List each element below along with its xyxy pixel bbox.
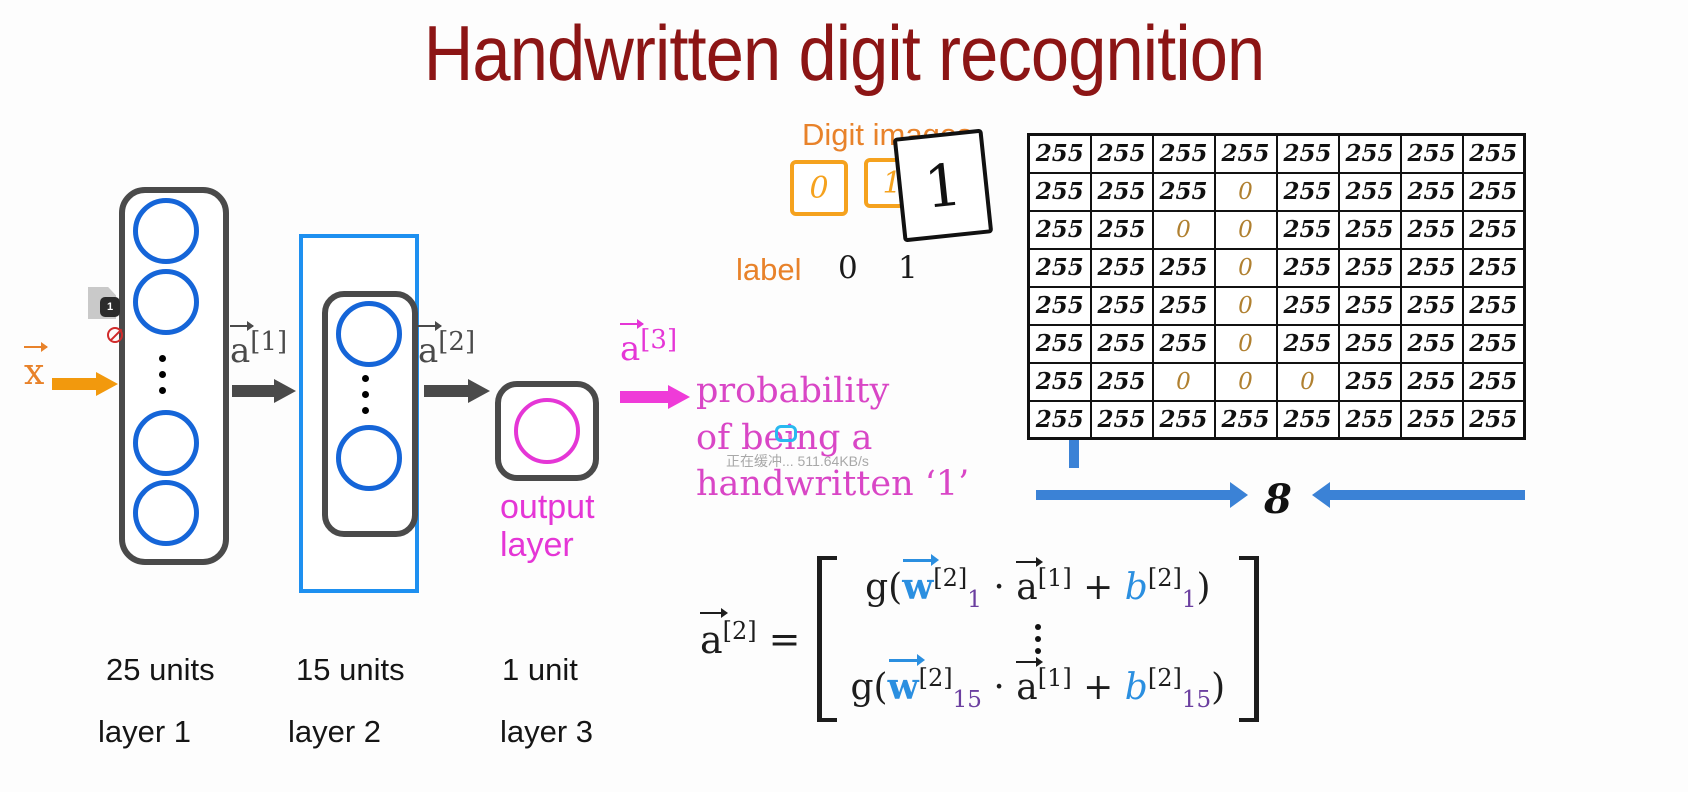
pixel-matrix-cell: 255 — [1153, 135, 1215, 173]
layer-2-name-label: layer 2 — [288, 714, 381, 750]
formula-bottom-w: w — [888, 666, 919, 708]
pixel-matrix-cell: 255 — [1339, 249, 1401, 287]
formula-bottom-b-sup: [2] — [1148, 664, 1182, 692]
pixel-matrix-cell: 255 — [1091, 325, 1153, 363]
pixel-matrix-row: 25525500255255255255 — [1029, 211, 1525, 249]
activation-2-symbol: a — [418, 331, 438, 371]
pixel-matrix-cell: 255 — [1277, 135, 1339, 173]
layer-2-unit-15 — [336, 425, 402, 491]
formula-top-g: g( — [865, 567, 902, 608]
formula-bottom-close: ) — [1211, 667, 1225, 708]
pixel-matrix-row: 2552552550255255255255 — [1029, 249, 1525, 287]
pixel-matrix-cell: 255 — [1153, 287, 1215, 325]
pixel-matrix-cell: 255 — [1029, 401, 1091, 439]
activation-2-label: a[2] — [418, 327, 475, 371]
pixel-matrix-cell: 255 — [1401, 287, 1463, 325]
pixel-matrix-cell: 255 — [1401, 173, 1463, 211]
activation-3-superscript: [3] — [640, 325, 677, 355]
handwritten-digit-card: 1 — [893, 129, 993, 243]
pixel-matrix-cell: 255 — [1463, 363, 1525, 401]
formula-bottom-dot: · — [993, 667, 1004, 708]
matrix-cols-dimension: 8 — [1264, 476, 1292, 523]
output-layer-label: output layer — [500, 488, 595, 564]
pixel-matrix-cell: 255 — [1277, 287, 1339, 325]
activation-2-superscript: [2] — [438, 327, 475, 357]
formula-bracket-right — [1239, 556, 1259, 722]
pixel-matrix-cell: 255 — [1091, 287, 1153, 325]
formula-top-a-sup: [1] — [1038, 564, 1072, 592]
pixel-matrix-cell: 255 — [1091, 249, 1153, 287]
label-value-0: 0 — [838, 250, 858, 286]
output-layer-line-1: output — [500, 488, 595, 526]
pixel-matrix-cell: 255 — [1091, 135, 1153, 173]
pixel-matrix-cell: 255 — [1029, 249, 1091, 287]
activation-3-label: a[3] — [620, 325, 677, 369]
layer-2-units-label: 15 units — [296, 652, 405, 688]
label-value-1: 1 — [898, 250, 918, 286]
pixel-matrix-cell: 255 — [1277, 173, 1339, 211]
pixel-matrix-cell: 255 — [1339, 325, 1401, 363]
pixel-matrix-cell: 255 — [1401, 211, 1463, 249]
pixel-matrix-cell: 255 — [1339, 135, 1401, 173]
formula-bottom-a-sup: [1] — [1038, 664, 1072, 692]
matrix-width-arrow-right-head — [1312, 482, 1330, 508]
page-title: Handwritten digit recognition — [101, 8, 1586, 99]
buffering-status: 正在缓冲... 511.64KB/s — [726, 451, 869, 471]
formula-top-w: w — [902, 566, 933, 608]
pixel-matrix-cell: 255 — [1463, 211, 1525, 249]
pixel-matrix-cell: 0 — [1277, 363, 1339, 401]
formula-top-b-sup: [2] — [1148, 564, 1182, 592]
pixel-matrix-cell: 0 — [1215, 325, 1277, 363]
pixel-matrix-cell: 255 — [1401, 401, 1463, 439]
layer-1-unit-24 — [133, 410, 199, 476]
pixel-matrix-cell: 0 — [1153, 363, 1215, 401]
pixel-matrix-cell: 0 — [1215, 363, 1277, 401]
formula-equals: = — [769, 617, 801, 661]
pixel-matrix-cell: 255 — [1339, 287, 1401, 325]
formula-top-dot: · — [993, 567, 1004, 608]
pixel-matrix-cell: 255 — [1277, 211, 1339, 249]
formula-lhs-symbol: a — [700, 618, 723, 662]
formula-bottom-b: b — [1125, 667, 1148, 708]
pixel-matrix-cell: 0 — [1215, 211, 1277, 249]
formula-bottom-g: g( — [851, 667, 888, 708]
pixel-matrix-cell: 255 — [1277, 249, 1339, 287]
output-layer-line-2: layer — [500, 526, 595, 564]
pixel-matrix-cell: 255 — [1463, 173, 1525, 211]
formula-top-a: a — [1016, 567, 1037, 608]
pixel-matrix-cell: 255 — [1401, 325, 1463, 363]
formula-top-w-sub: 1 — [967, 587, 982, 613]
formula-top-plus: + — [1083, 567, 1113, 608]
pixel-matrix-cell: 255 — [1401, 135, 1463, 173]
input-vector-label: x — [24, 352, 44, 393]
digit-card-0: 0 — [790, 160, 848, 216]
layer-2-ellipsis — [361, 375, 369, 414]
drag-count-badge: 1 — [100, 297, 120, 317]
pixel-matrix-row: 255255255255255255255255 — [1029, 135, 1525, 173]
matrix-width-arrow-left-shaft — [1036, 490, 1232, 500]
pixel-matrix-cell: 255 — [1277, 401, 1339, 439]
pixel-matrix-cell: 255 — [1153, 401, 1215, 439]
pixel-matrix-cell: 0 — [1153, 211, 1215, 249]
formula-top-close: ) — [1196, 567, 1210, 608]
formula-rows: g(w[2]1 · a[1] + b[2]1) g(w[2]15 · a[1] … — [837, 556, 1240, 722]
activation-1-label: a[1] — [230, 327, 287, 371]
pixel-matrix-cell: 255 — [1091, 363, 1153, 401]
layer-1-unit-25 — [133, 480, 199, 546]
pixel-matrix-row: 255255255255255255255255 — [1029, 401, 1525, 439]
formula-lhs-superscript: [2] — [723, 617, 757, 645]
formula-lhs: a[2] — [700, 617, 757, 662]
activation-1-symbol: a — [230, 331, 250, 371]
layer-1-unit-2 — [133, 269, 199, 335]
pixel-matrix-cell: 255 — [1091, 401, 1153, 439]
pixel-matrix-cell: 255 — [1339, 363, 1401, 401]
pixel-matrix-cell: 255 — [1091, 211, 1153, 249]
probability-line-1: probability — [696, 368, 969, 415]
formula-bottom-a: a — [1016, 667, 1037, 708]
activation-3-symbol: a — [620, 329, 640, 369]
pixel-matrix-cell: 255 — [1029, 135, 1091, 173]
pixel-matrix-cell: 0 — [1215, 249, 1277, 287]
pixel-matrix-cell: 255 — [1277, 325, 1339, 363]
activation-1-superscript: [1] — [250, 327, 287, 357]
pixel-matrix-cell: 255 — [1401, 249, 1463, 287]
pixel-matrix-cell: 255 — [1029, 211, 1091, 249]
formula-ellipsis — [1035, 620, 1041, 658]
formula-row-bottom: g(w[2]15 · a[1] + b[2]15) — [851, 662, 1226, 716]
formula-bottom-plus: + — [1083, 667, 1113, 708]
formula-bottom-w-sup: [2] — [919, 664, 953, 692]
pixel-matrix-cell: 255 — [1339, 211, 1401, 249]
pixel-matrix-cell: 255 — [1153, 173, 1215, 211]
formula-bottom-b-sub: 15 — [1182, 687, 1211, 713]
formula-top-w-sup: [2] — [933, 564, 967, 592]
pixel-matrix-cell: 255 — [1153, 249, 1215, 287]
pixel-matrix-body: 2552552552552552552552552552552550255255… — [1029, 135, 1525, 439]
pixel-matrix-row: 2552552550255255255255 — [1029, 173, 1525, 211]
pixel-matrix-cell: 255 — [1153, 325, 1215, 363]
output-unit — [514, 398, 580, 464]
formula-bottom-w-sub: 15 — [953, 687, 982, 713]
layer-2-unit-1 — [336, 301, 402, 367]
no-drop-icon — [107, 327, 123, 343]
pixel-matrix-cell: 255 — [1215, 401, 1277, 439]
label-word: label — [736, 252, 802, 288]
pixel-matrix-cell: 255 — [1463, 325, 1525, 363]
pixel-matrix-cell: 255 — [1339, 173, 1401, 211]
activation-formula: a[2] = g(w[2]1 · a[1] + b[2]1) g(w[2]15 … — [700, 556, 1259, 722]
formula-top-b: b — [1125, 567, 1148, 608]
layer-1-units-label: 25 units — [106, 652, 215, 688]
pixel-matrix-cell: 255 — [1029, 173, 1091, 211]
pixel-matrix-cell: 255 — [1029, 363, 1091, 401]
pixel-matrix: 2552552552552552552552552552552550255255… — [1027, 133, 1526, 440]
matrix-width-arrow-right-shaft — [1329, 490, 1525, 500]
input-vector-symbol: x — [24, 352, 44, 393]
probability-description: probability of being a handwritten ‘1’ — [696, 368, 969, 508]
matrix-width-arrow-left-head — [1230, 482, 1248, 508]
layer-1-unit-1 — [133, 198, 199, 264]
pixel-matrix-cell: 0 — [1215, 173, 1277, 211]
pixel-matrix-cell: 0 — [1215, 287, 1277, 325]
pixel-matrix-row: 2552552550255255255255 — [1029, 287, 1525, 325]
pixel-matrix-cell: 255 — [1029, 287, 1091, 325]
layer-3-name-label: layer 3 — [500, 714, 593, 750]
pixel-matrix-row: 255255000255255255 — [1029, 363, 1525, 401]
player-cursor-icon[interactable] — [775, 425, 797, 442]
pixel-matrix-cell: 255 — [1339, 401, 1401, 439]
pixel-matrix-cell: 255 — [1463, 401, 1525, 439]
layer-1-name-label: layer 1 — [98, 714, 191, 750]
pixel-matrix-cell: 255 — [1215, 135, 1277, 173]
formula-top-b-sub: 1 — [1182, 587, 1197, 613]
pixel-matrix-cell: 255 — [1091, 173, 1153, 211]
pixel-matrix-cell: 255 — [1463, 287, 1525, 325]
pixel-matrix-row: 2552552550255255255255 — [1029, 325, 1525, 363]
pixel-matrix-cell: 255 — [1029, 325, 1091, 363]
formula-bracket-left — [817, 556, 837, 722]
pixel-matrix-cell: 255 — [1463, 249, 1525, 287]
layer-3-units-label: 1 unit — [502, 652, 578, 688]
formula-row-top: g(w[2]1 · a[1] + b[2]1) — [865, 562, 1210, 616]
pixel-matrix-cell: 255 — [1401, 363, 1463, 401]
pixel-matrix-cell: 255 — [1463, 135, 1525, 173]
slide-canvas: Handwritten digit recognition x 1 a[1] a… — [0, 0, 1688, 792]
layer-1-ellipsis — [158, 355, 166, 394]
